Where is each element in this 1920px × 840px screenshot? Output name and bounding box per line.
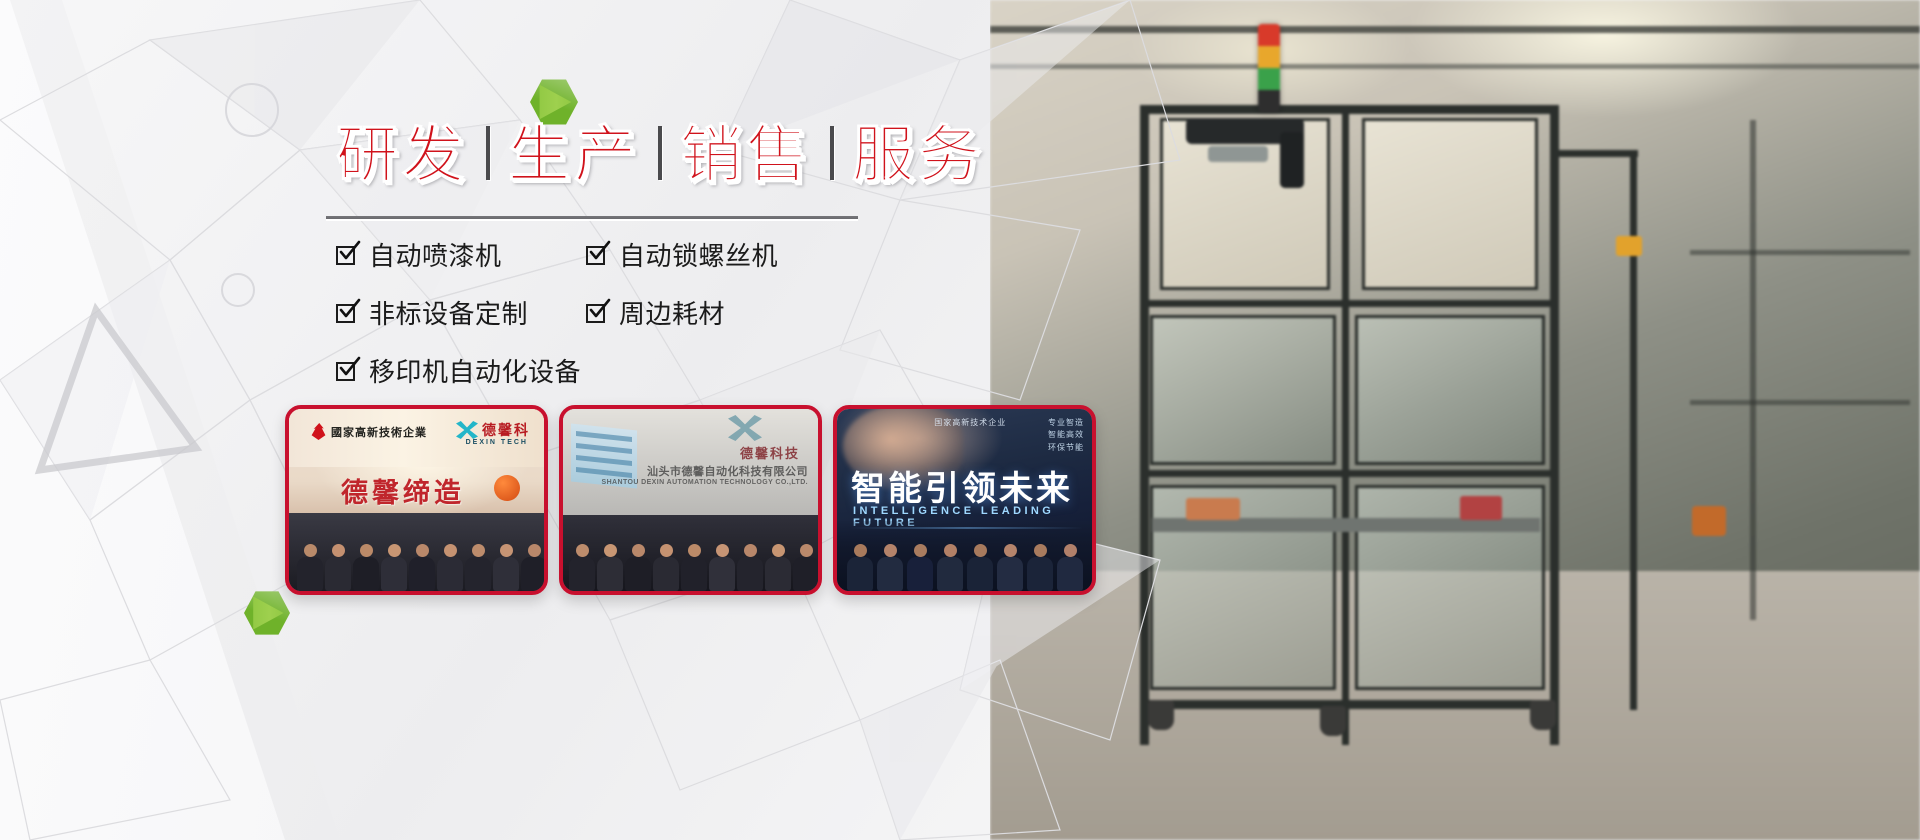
feature-item-pad-printer: 移印机自动化设备 — [336, 352, 586, 389]
feature-label: 周边耗材 — [619, 294, 725, 331]
flame-icon — [311, 423, 326, 440]
checkbox-checked-icon — [586, 244, 608, 266]
feature-label: 移印机自动化设备 — [369, 352, 581, 389]
award-label-left: 国家高新技术企业 — [934, 417, 1006, 428]
headline: 研发 生产 销售 服务 — [322, 124, 998, 186]
feature-item-custom-equipment: 非标设备定制 — [336, 294, 586, 331]
photo-card-office-signage[interactable]: 德馨科技 汕头市德馨自动化科技有限公司 SHANTOU DEXIN AUTOMA… — [559, 405, 822, 595]
orange-dot-decoration — [494, 475, 520, 501]
high-tech-badge: 國家高新技術企業 — [311, 423, 427, 440]
feature-item-consumables: 周边耗材 — [586, 294, 836, 331]
people-group-photo — [289, 513, 544, 591]
headline-divider — [326, 216, 858, 219]
headline-word-sales: 销售 — [666, 124, 826, 186]
photo-card-intelligence-award[interactable]: 国家高新技术企业 专业智造 智能高效 环保节能 智能引领未来 INTELLIGE… — [833, 405, 1096, 595]
factory-photo — [990, 0, 1920, 840]
feature-item-auto-screw: 自动锁螺丝机 — [586, 236, 836, 273]
headline-separator — [830, 126, 834, 180]
headline-separator — [658, 126, 662, 180]
checkbox-checked-icon — [586, 302, 608, 324]
checkbox-checked-icon — [336, 244, 358, 266]
feature-list: 自动喷漆机 自动锁螺丝机 非标设备定制 周边耗材 — [336, 236, 876, 389]
people-group-photo — [563, 515, 818, 591]
high-tech-badge-text: 國家高新技術企業 — [331, 424, 427, 440]
feature-label: 自动锁螺丝机 — [619, 236, 778, 273]
intelligence-title-cn: 智能引领未来 — [851, 461, 1073, 510]
feature-item-auto-paint: 自动喷漆机 — [336, 236, 586, 273]
promo-banner: 研发 生产 销售 服务 自动喷漆机 自动锁螺丝机 — [0, 0, 1920, 840]
tag-item: 环保节能 — [1048, 442, 1084, 454]
factory-photo-image — [990, 0, 1920, 840]
tag-item: 智能高效 — [1048, 429, 1084, 441]
photo-card-gallery: 國家高新技術企業 德馨科 DEXIN TECH 德馨缔造 — [285, 405, 1096, 595]
headline-word-rd: 研发 — [322, 124, 482, 186]
brand-name-en: DEXIN TECH — [466, 439, 528, 446]
booth-slogan: 德馨缔造 — [341, 471, 465, 510]
checkbox-checked-icon — [336, 302, 358, 324]
brand-logo: 德馨科 — [456, 420, 530, 440]
photo-card-exhibition-booth[interactable]: 國家高新技術企業 德馨科 DEXIN TECH 德馨缔造 — [285, 405, 548, 595]
company-name-cn: 汕头市德馨自动化科技有限公司 — [647, 463, 808, 479]
headline-word-service: 服务 — [838, 124, 998, 186]
dexin-x-icon — [456, 421, 478, 439]
headline-word-production: 生产 — [494, 124, 654, 186]
brand-name-cn: 德馨科技 — [740, 443, 800, 462]
feature-label: 非标设备定制 — [369, 294, 528, 331]
headline-separator — [486, 126, 490, 180]
company-name-en: SHANTOU DEXIN AUTOMATION TECHNOLOGY CO.,… — [602, 479, 808, 486]
feature-label: 自动喷漆机 — [369, 236, 502, 273]
tag-list: 专业智造 智能高效 环保节能 — [1048, 417, 1084, 454]
tag-item: 专业智造 — [1048, 417, 1084, 429]
brand-name-cn: 德馨科 — [482, 420, 530, 440]
signal-tower-icon — [1258, 24, 1280, 112]
people-group-photo — [837, 521, 1092, 591]
checkbox-checked-icon — [336, 360, 358, 382]
